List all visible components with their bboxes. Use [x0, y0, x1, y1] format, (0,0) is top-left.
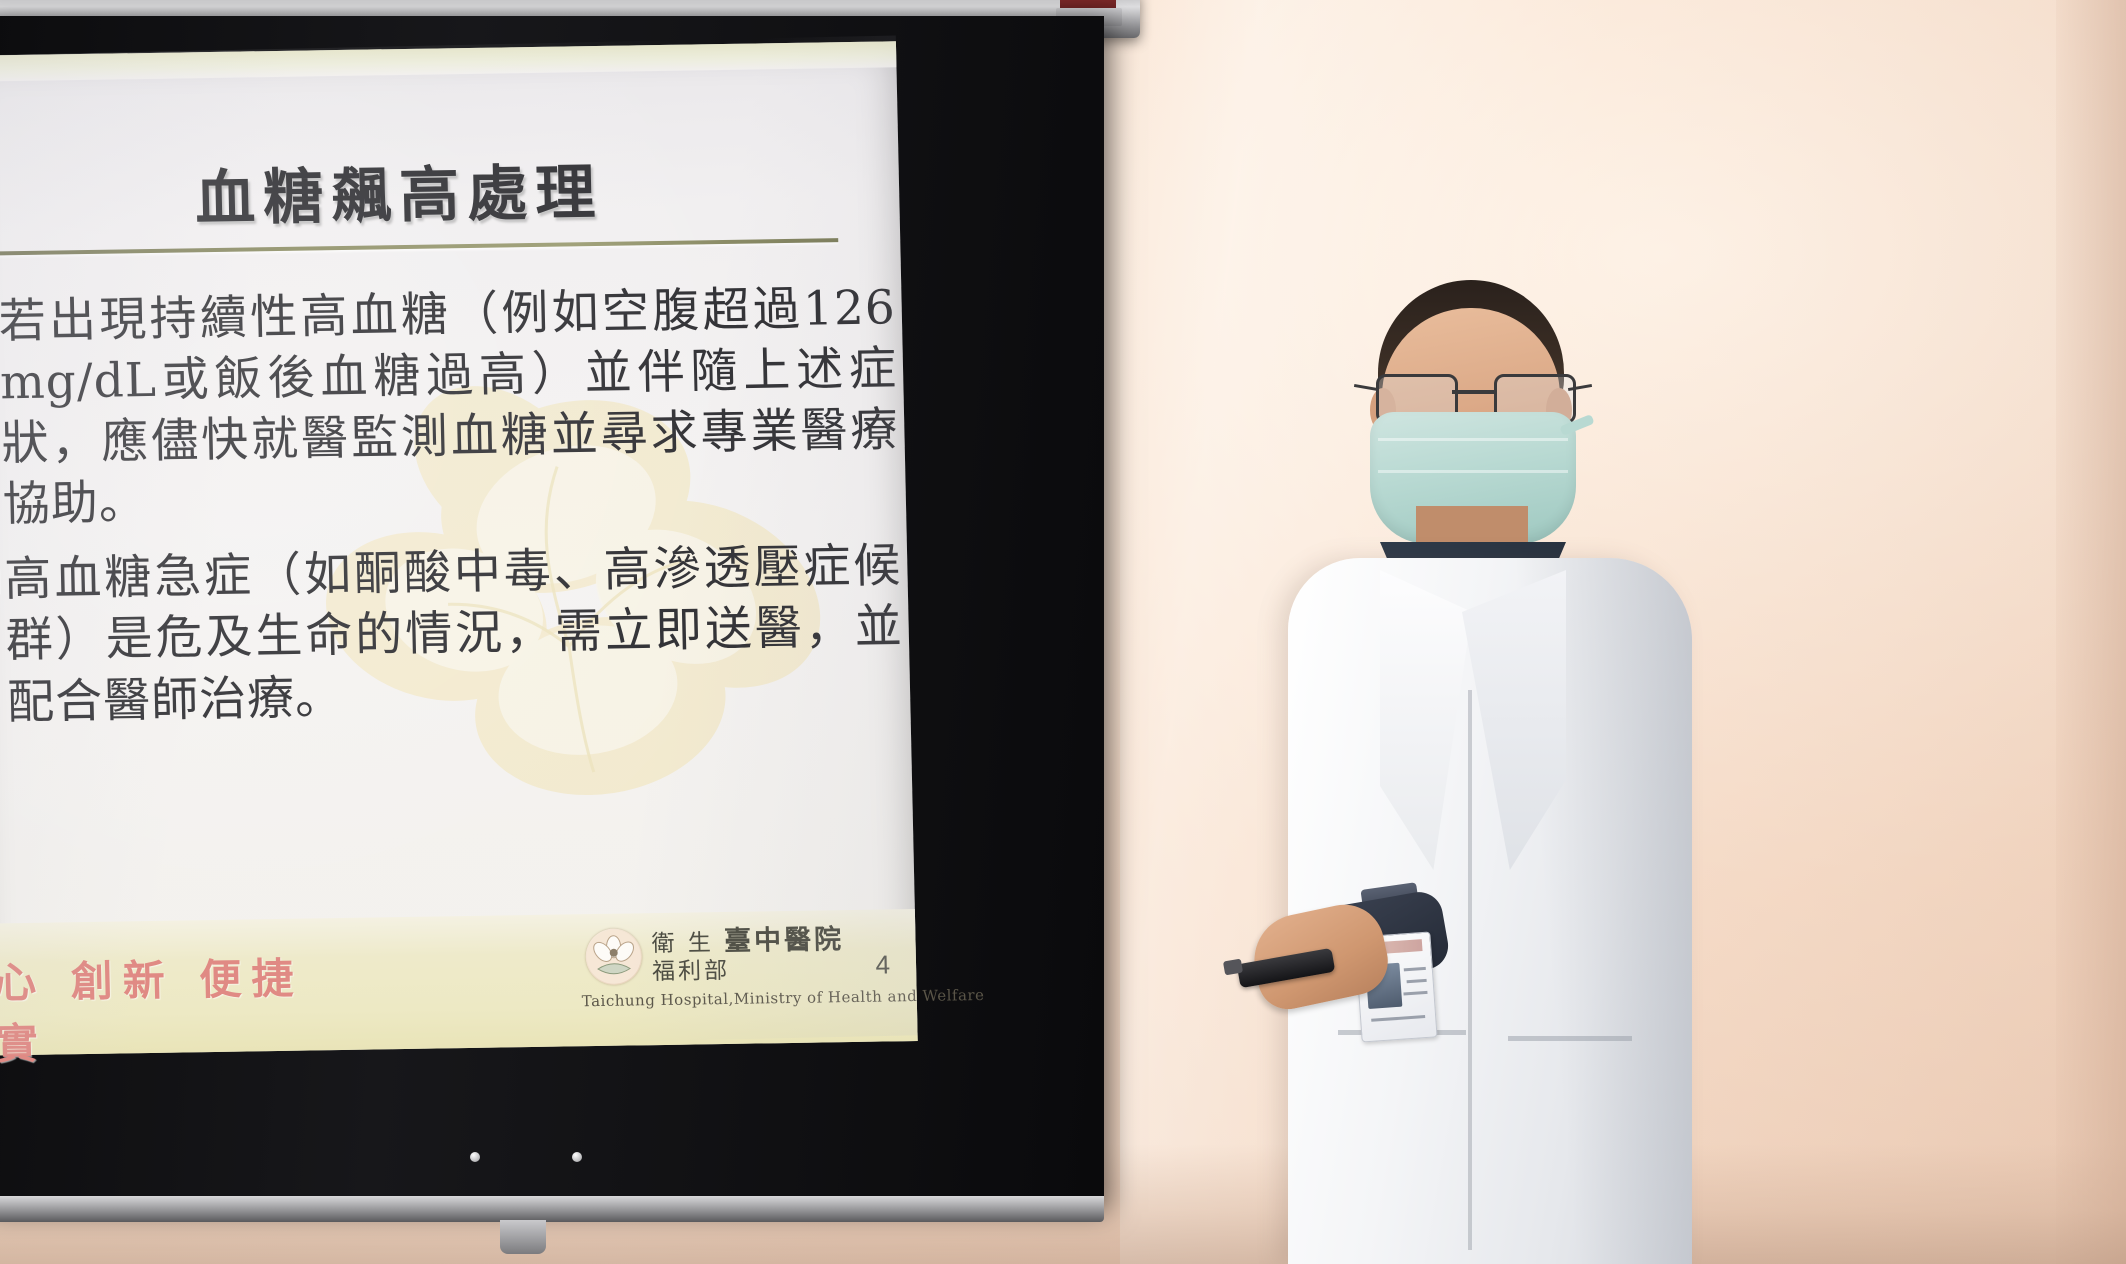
presentation-slide: 血糖飆高處理 若出現持續性高血糖（例如空腹超過126 mg/dL或飯後血糖過高）… — [0, 41, 918, 1056]
screen-bar-stud — [470, 1152, 480, 1162]
slide-top-band — [0, 41, 896, 82]
glasses-bridge — [1452, 390, 1494, 394]
screen-bottom-bar — [0, 1196, 1104, 1222]
bullet-item: 高血糖急症（如酮酸中毒、高滲透壓症候群）是危及生命的情況，需立即送醫，並配合醫師… — [0, 536, 905, 734]
org-name: 臺中醫院 — [724, 924, 845, 957]
glasses-temple-left — [1354, 384, 1378, 391]
hospital-name-cn: 衛 生 臺中醫院 福利部 — [651, 924, 845, 986]
title-divider — [0, 238, 838, 256]
wall-right-edge — [2056, 0, 2126, 1264]
coat-pocket-right — [1508, 1036, 1632, 1041]
hospital-name-en: Taichung Hospital,Ministry of Health and… — [582, 986, 985, 1010]
slide-body: 若出現持續性高血糖（例如空腹超過126 mg/dL或飯後血糖過高）並伴隨上述症狀… — [0, 277, 905, 747]
id-badge-text-line — [1403, 991, 1427, 996]
id-badge-text-line — [1404, 967, 1426, 972]
ministry-emblem-icon — [585, 929, 642, 986]
slide-footer: 安心 創新 便捷 精實 — [0, 909, 918, 1056]
org-line-2: 福利部 — [652, 956, 845, 986]
org-line-1: 衛 生 — [651, 930, 714, 957]
id-badge-text-line — [1371, 1015, 1425, 1022]
footer-slogan: 安心 創新 便捷 精實 — [0, 944, 364, 1073]
id-badge-text-line — [1407, 979, 1427, 983]
hospital-logo: 衛 生 臺中醫院 福利部 — [585, 924, 845, 987]
bullet-text: 高血糖急症（如酮酸中毒、高滲透壓症候群）是危及生命的情況，需立即送醫，並配合醫師… — [4, 536, 905, 733]
projection-screen: 血糖飆高處理 若出現持續性高血糖（例如空腹超過126 mg/dL或飯後血糖過高）… — [0, 16, 1104, 1206]
slide-title: 血糖飆高處理 — [0, 140, 840, 241]
room-photo: 血糖飆高處理 若出現持續性高血糖（例如空腹超過126 mg/dL或飯後血糖過高）… — [0, 0, 2126, 1264]
screen-bar-stud — [572, 1152, 582, 1162]
slide-page-number: 4 — [875, 949, 890, 980]
coat-button-placket — [1468, 690, 1472, 1250]
bullet-text: 若出現持續性高血糖（例如空腹超過126 mg/dL或飯後血糖過高）並伴隨上述症狀… — [0, 277, 900, 535]
presenter — [1230, 270, 1690, 1264]
bullet-item: 若出現持續性高血糖（例如空腹超過126 mg/dL或飯後血糖過高）並伴隨上述症狀… — [0, 277, 900, 536]
